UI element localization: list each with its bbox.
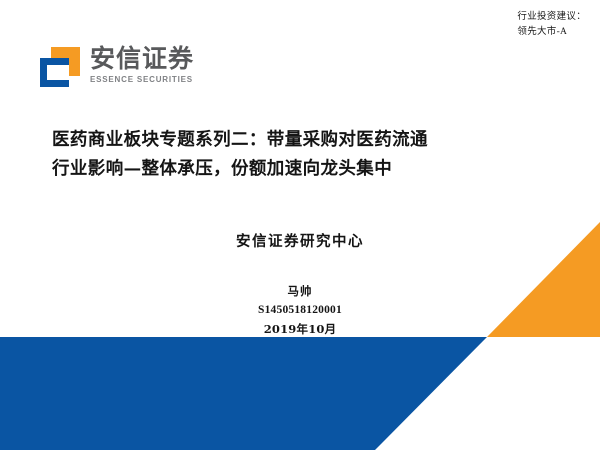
page-title: 医药商业板块专题系列二：带量采购对医药流通 行业影响—整体承压，份额加速向龙头集… — [52, 126, 552, 184]
blue-banner-polygon — [0, 337, 487, 450]
author-license-number: S1450518120001 — [0, 301, 600, 320]
company-logo: 安信证券 ESSENCE SECURITIES — [38, 44, 194, 89]
logo-inner-notch — [47, 65, 69, 80]
recommendation-label: 行业投资建议： — [517, 10, 586, 25]
investment-recommendation: 行业投资建议： 领先大市-A — [517, 10, 586, 40]
logo-chinese-name: 安信证券 — [90, 44, 194, 73]
logo-wordmark: 安信证券 ESSENCE SECURITIES — [90, 44, 194, 85]
recommendation-rating: 领先大市-A — [517, 25, 586, 40]
publication-date: 2019年10月 — [0, 320, 600, 339]
page-title-line-2: 行业影响—整体承压，份额加速向龙头集中 — [52, 155, 552, 184]
presentation-cover-slide: 行业投资建议： 领先大市-A 安信证券 ESSENCE SECURITIES 医… — [0, 0, 600, 450]
research-center-label: 安信证券研究中心 — [0, 230, 600, 251]
page-title-line-1: 医药商业板块专题系列二：带量采购对医药流通 — [52, 126, 552, 155]
author-name: 马帅 — [0, 282, 600, 301]
author-block: 马帅 S1450518120001 2019年10月 — [0, 282, 600, 339]
logo-english-name: ESSENCE SECURITIES — [90, 75, 194, 85]
essence-securities-logo-mark — [38, 45, 82, 89]
